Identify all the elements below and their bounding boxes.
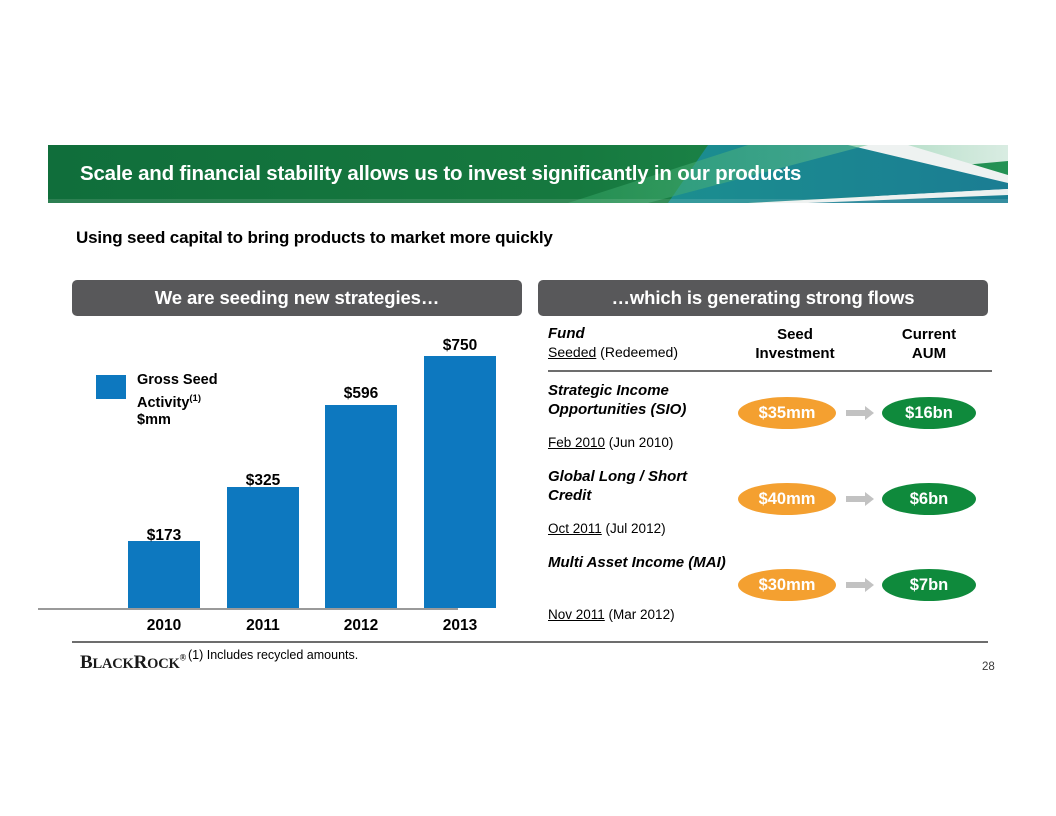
fund-redeemed-date: (Jul 2012) — [602, 521, 666, 536]
chart-legend: Gross Seed Activity(1) $mm — [96, 372, 218, 429]
column-header-aum-line1: Current — [902, 326, 956, 343]
fund-name: Strategic Income Opportunities (SIO) — [548, 382, 726, 419]
current-aum-badge: $7bn — [882, 569, 976, 601]
table-row: Global Long / Short Credit Oct 2011 (Jul… — [548, 458, 992, 544]
subtitle: Using seed capital to bring products to … — [76, 228, 553, 248]
column-header-seeded-underlined: Seeded — [548, 344, 596, 360]
column-header-seed-investment: Seed Investment — [730, 325, 860, 363]
column-header-aum-line2: AUM — [912, 345, 946, 362]
column-header-fund-line2: Seeded (Redeemed) — [548, 343, 678, 362]
logo-r: R — [134, 652, 148, 673]
legend-footnote-marker: (1) — [189, 393, 201, 404]
column-header-seed-line2: Investment — [755, 345, 834, 362]
page-title: Scale and financial stability allows us … — [80, 162, 960, 186]
flows-table-header: Fund Seeded (Redeemed) Seed Investment C… — [548, 324, 992, 372]
fund-seeded-date: Oct 2011 — [548, 521, 602, 536]
current-aum-badge: $16bn — [882, 397, 976, 429]
fund-seeded-date: Feb 2010 — [548, 435, 605, 450]
seed-investment-badge: $40mm — [738, 483, 836, 515]
right-arrow-icon — [846, 406, 874, 420]
bar-2011 — [227, 487, 299, 608]
fund-dates: Nov 2011 (Mar 2012) — [548, 606, 733, 623]
right-panel-header: …which is generating strong flows — [538, 280, 988, 316]
fund-redeemed-date: (Jun 2010) — [605, 435, 673, 450]
page-number: 28 — [982, 661, 995, 673]
blackrock-logo: BLACKROCK® — [80, 652, 186, 674]
bar-value-2011: $325 — [217, 472, 309, 490]
column-header-seed-line1: Seed — [777, 326, 813, 343]
registered-trademark-icon: ® — [180, 653, 187, 663]
fund-name: Multi Asset Income (MAI) — [548, 554, 726, 573]
bar-category-2013: 2013 — [414, 617, 506, 635]
fund-dates: Oct 2011 (Jul 2012) — [548, 520, 733, 537]
bar-value-2013: $750 — [414, 337, 506, 355]
bar-category-2012: 2012 — [315, 617, 407, 635]
bar-category-2011: 2011 — [217, 617, 309, 635]
bar-value-2012: $596 — [315, 385, 407, 403]
table-row: Strategic Income Opportunities (SIO) Feb… — [548, 372, 992, 458]
logo-lack: LACK — [92, 656, 133, 672]
footer-divider — [72, 641, 988, 643]
legend-label-line1: Gross Seed — [137, 372, 218, 388]
fund-redeemed-date: (Mar 2012) — [605, 607, 675, 622]
seed-investment-badge: $30mm — [738, 569, 836, 601]
legend-label-line2: Activity — [137, 394, 189, 410]
right-arrow-icon — [846, 492, 874, 506]
column-header-fund-line1: Fund — [548, 324, 678, 343]
current-aum-badge: $6bn — [882, 483, 976, 515]
left-panel-header: We are seeding new strategies… — [72, 280, 522, 316]
bar-category-2010: 2010 — [118, 617, 210, 635]
legend-label-line3: $mm — [137, 412, 171, 428]
seed-investment-badge: $35mm — [738, 397, 836, 429]
bar-2013 — [424, 356, 496, 608]
logo-ock: OCK — [147, 656, 179, 672]
column-header-fund: Fund Seeded (Redeemed) — [548, 324, 678, 362]
logo-b: B — [80, 652, 92, 673]
legend-square-icon — [96, 375, 126, 399]
fund-seeded-date: Nov 2011 — [548, 607, 605, 622]
chart-x-axis-line — [38, 608, 458, 610]
bar-2012 — [325, 405, 397, 608]
flows-table: Fund Seeded (Redeemed) Seed Investment C… — [548, 324, 992, 630]
legend-label: Gross Seed Activity(1) $mm — [137, 372, 218, 429]
right-arrow-icon — [846, 578, 874, 592]
bar-2010 — [128, 541, 200, 608]
table-row: Multi Asset Income (MAI) Nov 2011 (Mar 2… — [548, 544, 992, 630]
fund-name: Global Long / Short Credit — [548, 468, 726, 505]
column-header-redeemed: (Redeemed) — [596, 344, 678, 360]
fund-dates: Feb 2010 (Jun 2010) — [548, 434, 733, 451]
column-header-current-aum: Current AUM — [866, 325, 992, 363]
footnote: (1) Includes recycled amounts. — [188, 648, 358, 662]
bar-value-2010: $173 — [118, 527, 210, 545]
slide-canvas: Scale and financial stability allows us … — [0, 0, 1056, 816]
